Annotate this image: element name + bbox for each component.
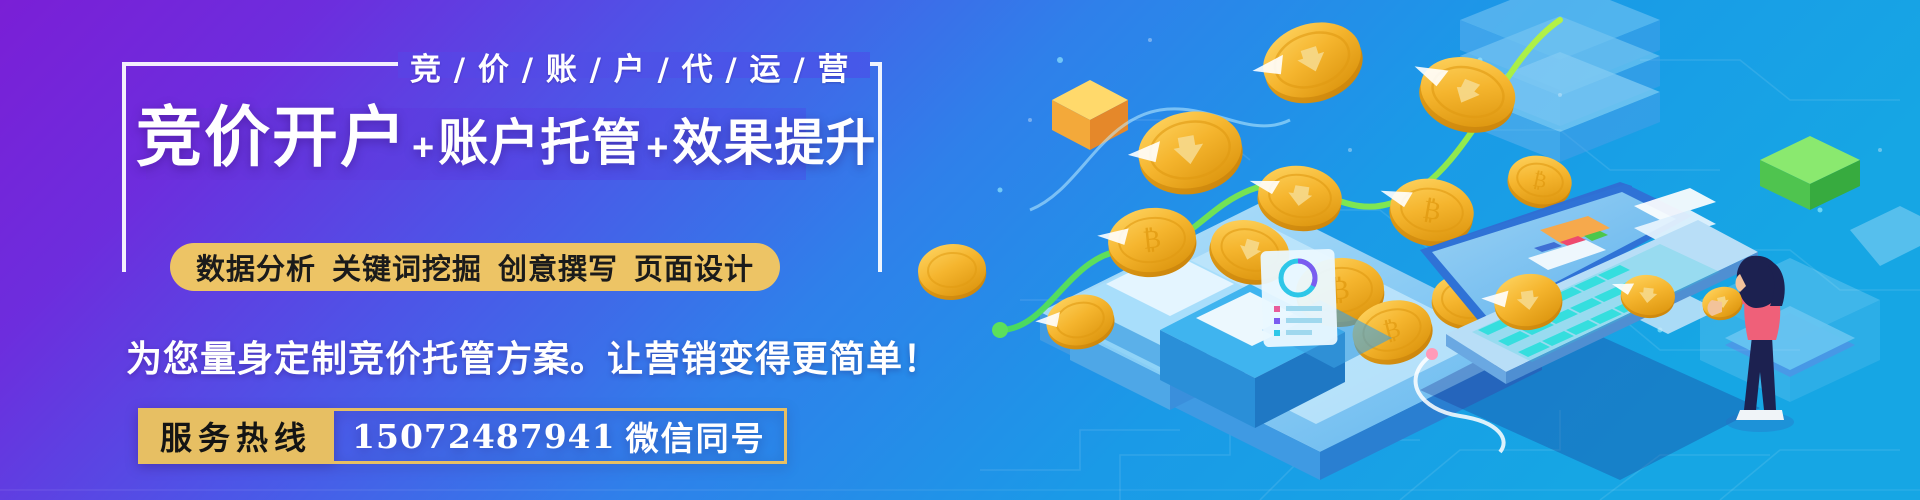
service-item-3: 创意撰写 [498, 246, 618, 288]
svg-text:₿: ₿ [1329, 272, 1351, 306]
headline-part-3: 效果提升 [672, 118, 876, 168]
hotline-label: 服务热线 [138, 408, 334, 464]
svg-text:₿: ₿ [1141, 224, 1162, 256]
services-pill: 数据分析 关键词挖掘 创意撰写 页面设计 [170, 243, 780, 291]
hotline-value[interactable]: 15072487941 微信同号 [334, 408, 787, 464]
subheadline-text: 为您量身定制竞价托管方案。让营销变得更简单！ [126, 330, 940, 382]
svg-text:₿: ₿ [1507, 237, 1526, 264]
hotline-phone-number: 15072487941 [352, 417, 616, 456]
service-item-2: 关键词挖掘 [332, 246, 482, 288]
svg-text:₿: ₿ [1381, 314, 1404, 345]
headline-plus-2: + [646, 129, 668, 167]
service-item-4: 页面设计 [634, 246, 754, 288]
headline: 竞价开户 + 账户托管 + 效果提升 [136, 104, 876, 170]
headline-part-1: 竞价开户 [136, 104, 408, 170]
svg-text:₿: ₿ [1531, 167, 1550, 193]
promo-banner: ₿ ₿ ₿ [0, 0, 1920, 500]
banner-copy-block: 竞 / 价 / 账 / 户 / 代 / 运 / 营 竞价开户 + 账户托管 + … [0, 0, 980, 500]
svg-text:₿: ₿ [1420, 195, 1443, 228]
hotline-bar: 服务热线 15072487941 微信同号 [138, 408, 787, 464]
service-item-1: 数据分析 [196, 246, 316, 288]
hotline-wechat-note: 微信同号 [626, 412, 766, 460]
eyebrow-text: 竞 / 价 / 账 / 户 / 代 / 运 / 营 [410, 44, 849, 89]
headline-plus-1: + [412, 129, 434, 167]
headline-part-2: 账户托管 [438, 118, 642, 168]
